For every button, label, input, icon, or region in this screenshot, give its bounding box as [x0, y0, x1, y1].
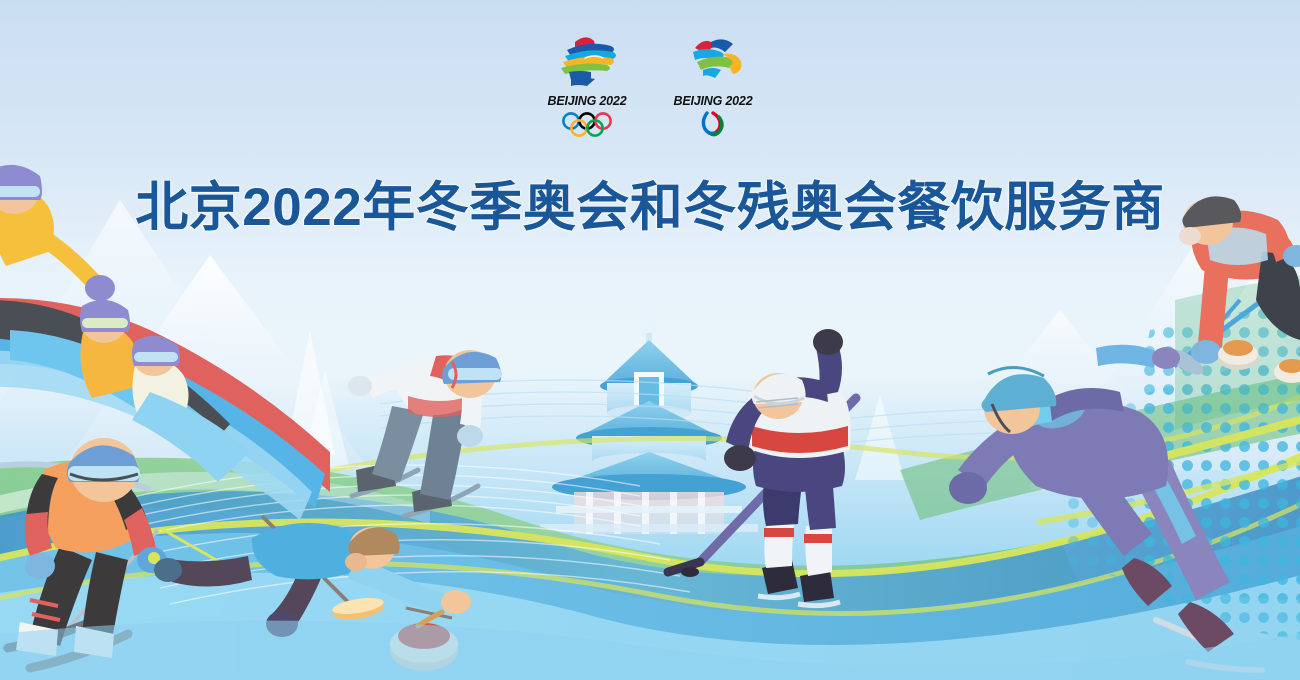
paralympic-wordmark: BEIJING 2022 — [667, 92, 759, 108]
paralympic-emblem: BEIJING 2022 — [667, 32, 759, 139]
olympic-rings-icon — [541, 109, 633, 139]
paralympic-emblem-mark — [667, 32, 759, 90]
beijing-2022-banner: BEIJING 2022 — [0, 0, 1300, 680]
page-title: 北京2022年冬季奥会和冬残奥会餐饮服务商 — [0, 179, 1300, 237]
olympic-emblem-mark — [541, 32, 633, 90]
olympic-wordmark: BEIJING 2022 — [541, 92, 633, 108]
emblem-group: BEIJING 2022 — [0, 32, 1300, 139]
svg-text:BEIJING 2022: BEIJING 2022 — [674, 94, 753, 108]
paralympic-agitos-icon — [667, 109, 759, 139]
svg-text:BEIJING 2022: BEIJING 2022 — [548, 94, 627, 108]
olympic-emblem: BEIJING 2022 — [541, 32, 633, 139]
